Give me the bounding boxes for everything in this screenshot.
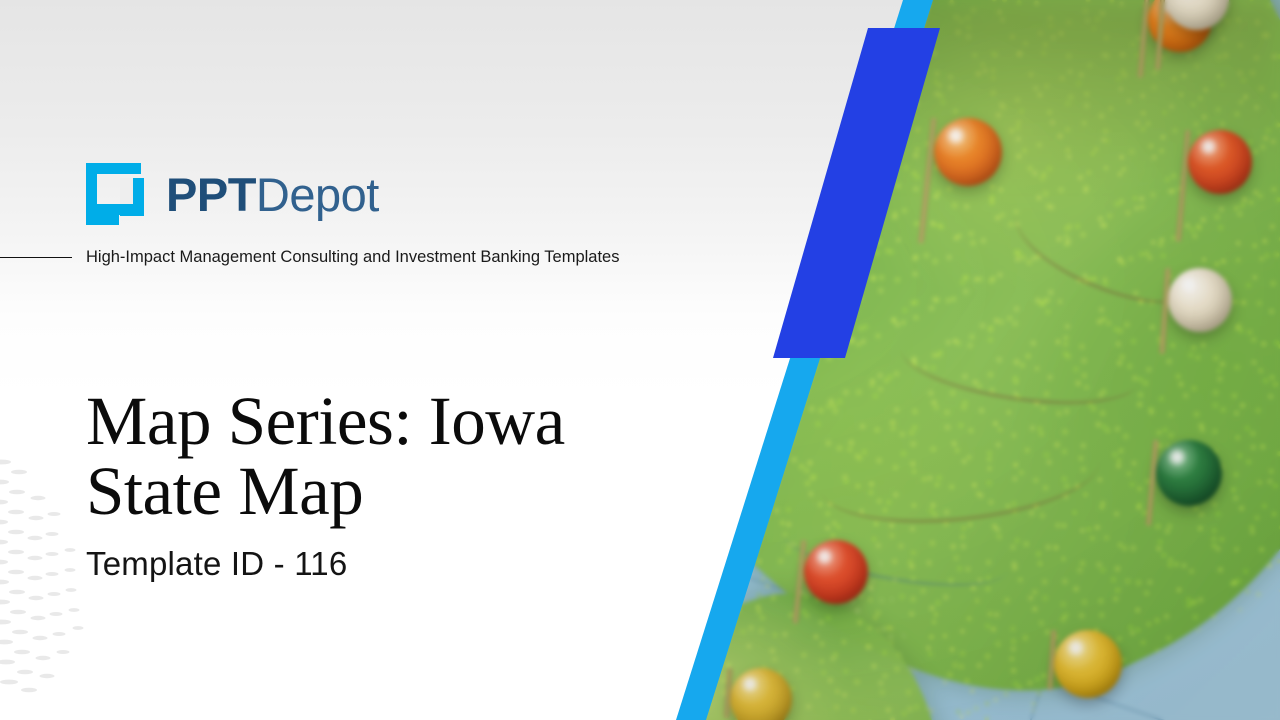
presentation-slide: PPTDepot High-Impact Management Consulti… — [0, 0, 1280, 720]
page-title: Map Series: Iowa State Map — [86, 386, 686, 526]
tagline-row: High-Impact Management Consulting and In… — [0, 248, 760, 267]
brand-name-bold: PPT — [166, 168, 256, 221]
page-title-line-2: State Map — [86, 453, 363, 529]
photo-depth-blur — [0, 0, 1280, 720]
page-title-line-1: Map Series: Iowa — [86, 383, 565, 459]
ppt-depot-document-mark-icon — [86, 163, 144, 225]
brand-wordmark: PPTDepot — [166, 171, 379, 218]
brand-name-light: Depot — [256, 168, 379, 221]
brand-logo[interactable]: PPTDepot — [86, 163, 379, 225]
map-photograph — [0, 0, 1280, 720]
decorative-dot-pattern — [0, 440, 96, 720]
template-id-label: Template ID - 116 — [86, 545, 347, 583]
tagline-text: High-Impact Management Consulting and In… — [86, 248, 620, 267]
tagline-rule — [0, 257, 72, 258]
